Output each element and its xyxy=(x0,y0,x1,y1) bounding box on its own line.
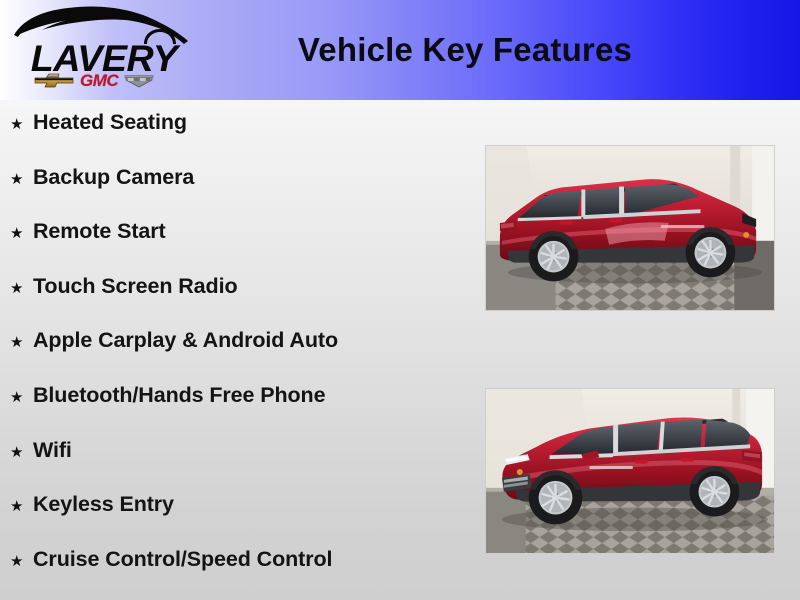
brand-badges: GMC xyxy=(34,69,184,91)
feature-label: Touch Screen Radio xyxy=(33,274,470,299)
feature-label: Heated Seating xyxy=(33,110,470,135)
feature-label: Apple Carplay & Android Auto xyxy=(33,328,470,353)
feature-label: Backup Camera xyxy=(33,165,470,190)
star-bullet-icon: ★ xyxy=(10,499,33,514)
feature-label: Bluetooth/Hands Free Phone xyxy=(33,383,470,408)
star-bullet-icon: ★ xyxy=(10,226,33,241)
star-bullet-icon: ★ xyxy=(10,172,33,187)
cadillac-crest-icon xyxy=(124,72,154,89)
feature-item: ★ Backup Camera xyxy=(0,165,470,220)
chevrolet-bowtie-icon xyxy=(34,72,74,88)
vehicle-photo-side-profile[interactable] xyxy=(485,145,775,311)
vehicle-photo-side-profile-image xyxy=(486,146,774,310)
feature-item: ★ Remote Start xyxy=(0,219,470,274)
feature-item: ★ Cruise Control/Speed Control xyxy=(0,547,470,600)
feature-label: Cruise Control/Speed Control xyxy=(33,547,470,572)
star-bullet-icon: ★ xyxy=(10,117,33,132)
feature-item: ★ Bluetooth/Hands Free Phone xyxy=(0,383,470,438)
feature-label: Remote Start xyxy=(33,219,470,244)
star-bullet-icon: ★ xyxy=(10,335,33,350)
slide-root: Vehicle Key Features LAVERY xyxy=(0,0,800,600)
features-list: ★ Heated Seating ★ Backup Camera ★ Remot… xyxy=(0,110,470,600)
dealer-logo: LAVERY GMC xyxy=(6,2,198,97)
vehicle-photo-front-three-quarter-image xyxy=(486,389,774,553)
star-bullet-icon: ★ xyxy=(10,281,33,296)
feature-item: ★ Touch Screen Radio xyxy=(0,274,470,329)
feature-item: ★ Wifi xyxy=(0,438,470,493)
star-bullet-icon: ★ xyxy=(10,554,33,569)
feature-label: Keyless Entry xyxy=(33,492,470,517)
feature-item: ★ Apple Carplay & Android Auto xyxy=(0,328,470,383)
star-bullet-icon: ★ xyxy=(10,445,33,460)
feature-item: ★ Heated Seating xyxy=(0,110,470,165)
feature-label: Wifi xyxy=(33,438,470,463)
gmc-wordmark-icon: GMC xyxy=(80,72,118,89)
feature-item: ★ Keyless Entry xyxy=(0,492,470,547)
vehicle-photo-front-three-quarter[interactable] xyxy=(485,388,775,554)
star-bullet-icon: ★ xyxy=(10,390,33,405)
